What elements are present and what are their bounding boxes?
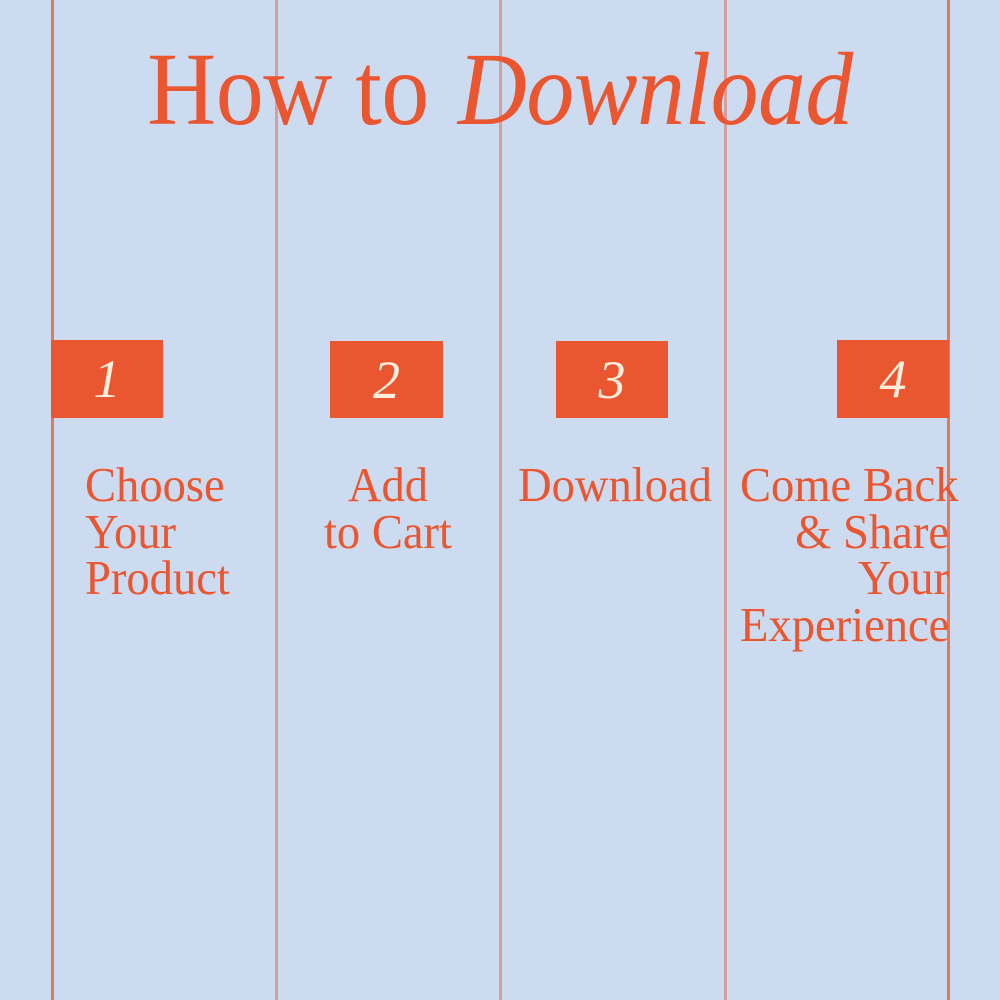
step-label-3: Download [518,462,718,509]
step-number-badge-1: 1 [51,340,163,418]
column-rule-2 [275,0,278,1000]
how-to-download-poster: How to Download 1 2 3 4 Choose Your Prod… [0,0,1000,1000]
step-label-4-line-2: & Share [740,509,949,556]
step-label-1-line-1: Choose [85,462,275,509]
title-regular-text: How to [147,32,429,147]
step-label-1-line-2: Your [85,509,275,556]
step-label-2: Add to Cart [282,462,495,555]
step-label-1-line-3: Product [85,555,275,602]
step-label-2-line-1: Add [282,462,495,509]
step-label-1: Choose Your Product [85,462,275,602]
step-label-2-line-2: to Cart [282,509,495,556]
step-number-badge-2: 2 [330,341,443,418]
title-italic-text: Download [452,32,853,147]
column-rule-3 [499,0,502,1000]
step-label-4-line-1: Come Back [740,462,949,509]
step-label-4: Come Back & Share Your Experience [740,462,949,648]
step-number-badge-4: 4 [837,340,949,418]
step-label-3-line-1: Download [518,462,718,509]
step-label-4-line-4: Experience [740,602,949,649]
step-label-4-line-3: Your [740,555,949,602]
column-rule-4 [724,0,727,1000]
step-number-badge-3: 3 [556,341,668,418]
column-rule-1 [51,0,54,1000]
page-title: How to Download [40,38,960,142]
